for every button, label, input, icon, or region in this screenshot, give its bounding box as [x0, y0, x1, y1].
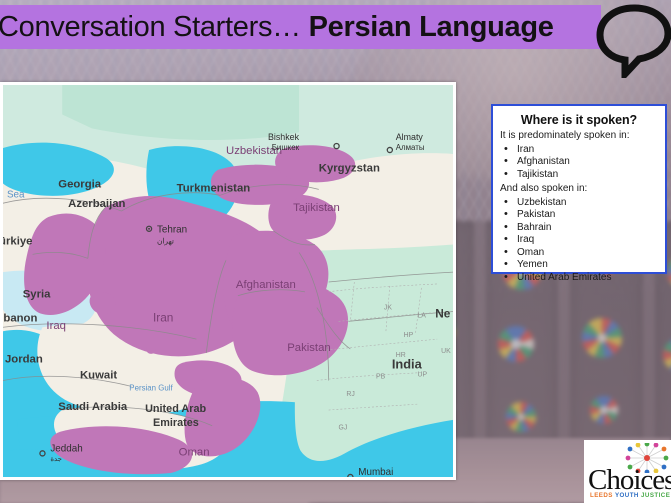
list-item: Iran [500, 144, 658, 157]
map-code-jk: JK [384, 305, 392, 312]
map-label-iraq: Iraq [46, 320, 66, 332]
map-label-iran: Iran [153, 310, 173, 324]
map-code-uk: UK [441, 348, 451, 355]
info-lead-primary: It is predominately spoken in: [500, 130, 658, 143]
choices-logo: Choices LEEDS YOUTH JUSTICE SERVICE [584, 440, 671, 503]
map-code-rj: RJ [346, 391, 354, 398]
map-label-afghanistan: Afghanistan [236, 279, 296, 291]
tagline-justice: JUSTICE [641, 492, 671, 499]
map-label-pakistan: Pakistan [287, 342, 330, 354]
info-lead-secondary: And also spoken in: [500, 183, 658, 196]
map-code-gj: GJ [339, 425, 348, 432]
map-label-jeddah: Jeddah [50, 443, 82, 454]
logo-tagline: LEEDS YOUTH JUSTICE SERVICE [590, 492, 671, 499]
map-label-saudi-arabia: Saudi Arabia [58, 401, 128, 413]
map-label-lebanon: ebanon [3, 312, 37, 324]
map-label-tehran: Tehran [157, 225, 187, 236]
info-panel: Where is it spoken? It is predominately … [491, 104, 667, 274]
secondary-country-list: Uzbekistan Pakistan Bahrain Iraq Oman Ye… [500, 197, 658, 285]
map-label-black-sea: Sea [7, 189, 25, 200]
list-item: Tajikistan [500, 169, 658, 182]
map-label-georgia: Georgia [58, 178, 102, 190]
map-label-syria: Syria [23, 289, 51, 301]
map-label-bishkek: Bishkek [268, 132, 300, 142]
page-title: Conversation Starters… Persian Language [0, 13, 554, 42]
title-banner: Conversation Starters… Persian Language [0, 5, 601, 49]
map-label-oman: Oman [179, 446, 210, 458]
title-bold-part: Persian Language [309, 11, 554, 43]
map-label-almaty-native: Алматы [396, 143, 425, 152]
map-label-jordan: Jordan [5, 354, 43, 366]
map-label-uae-line1: United Arab [145, 403, 206, 415]
map-code-la: LA [417, 312, 426, 319]
tagline-youth: YOUTH [615, 492, 641, 499]
map-code-up: UP [417, 372, 427, 379]
list-item: Afghanistan [500, 156, 658, 169]
map-label-azerbaijan: Azerbaijan [68, 198, 125, 210]
map-code-hr: HR [396, 352, 406, 359]
map-label-tajikistan: Tajikistan [293, 202, 340, 214]
map-svg: Sea Georgia Azerbaijan ürkiye Syria eban… [3, 85, 453, 477]
title-light-part: Conversation Starters… [0, 11, 309, 43]
list-item: Uzbekistan [500, 197, 658, 210]
map-image[interactable]: Sea Georgia Azerbaijan ürkiye Syria eban… [0, 82, 456, 480]
list-item: Pakistan [500, 209, 658, 222]
map-label-nepal: Ne [435, 306, 451, 320]
primary-country-list: Iran Afghanistan Tajikistan [500, 144, 658, 182]
list-item: Oman [500, 247, 658, 260]
map-code-hp: HP [404, 332, 414, 339]
map-label-turkmenistan: Turkmenistan [177, 182, 251, 194]
speech-bubble-icon [594, 2, 671, 78]
list-item: Iraq [500, 234, 658, 247]
map-label-kyrgyzstan: Kyrgyzstan [319, 163, 380, 175]
map-label-bishkek-native: Бишкек [272, 143, 300, 152]
list-item: United Arab Emirates [500, 272, 658, 285]
map-label-tehran-native: تهران [157, 237, 174, 246]
slide-canvas: Conversation Starters… Persian Language [0, 0, 671, 503]
map-label-kuwait: Kuwait [80, 370, 117, 382]
tagline-leeds: LEEDS [590, 492, 615, 499]
list-item: Bahrain [500, 222, 658, 235]
map-label-persian-gulf: Persian Gulf [129, 383, 173, 392]
map-label-turkiye: ürkiye [3, 236, 32, 248]
map-label-mumbai: Mumbai [358, 467, 393, 477]
map-label-india: India [392, 357, 423, 372]
map-label-jeddah-native: جدة [50, 456, 62, 463]
map-label-uae-line2: Emirates [153, 417, 199, 429]
list-item: Yemen [500, 259, 658, 272]
map-code-pb: PB [376, 374, 386, 381]
map-label-almaty: Almaty [396, 132, 424, 142]
info-heading: Where is it spoken? [500, 113, 658, 127]
